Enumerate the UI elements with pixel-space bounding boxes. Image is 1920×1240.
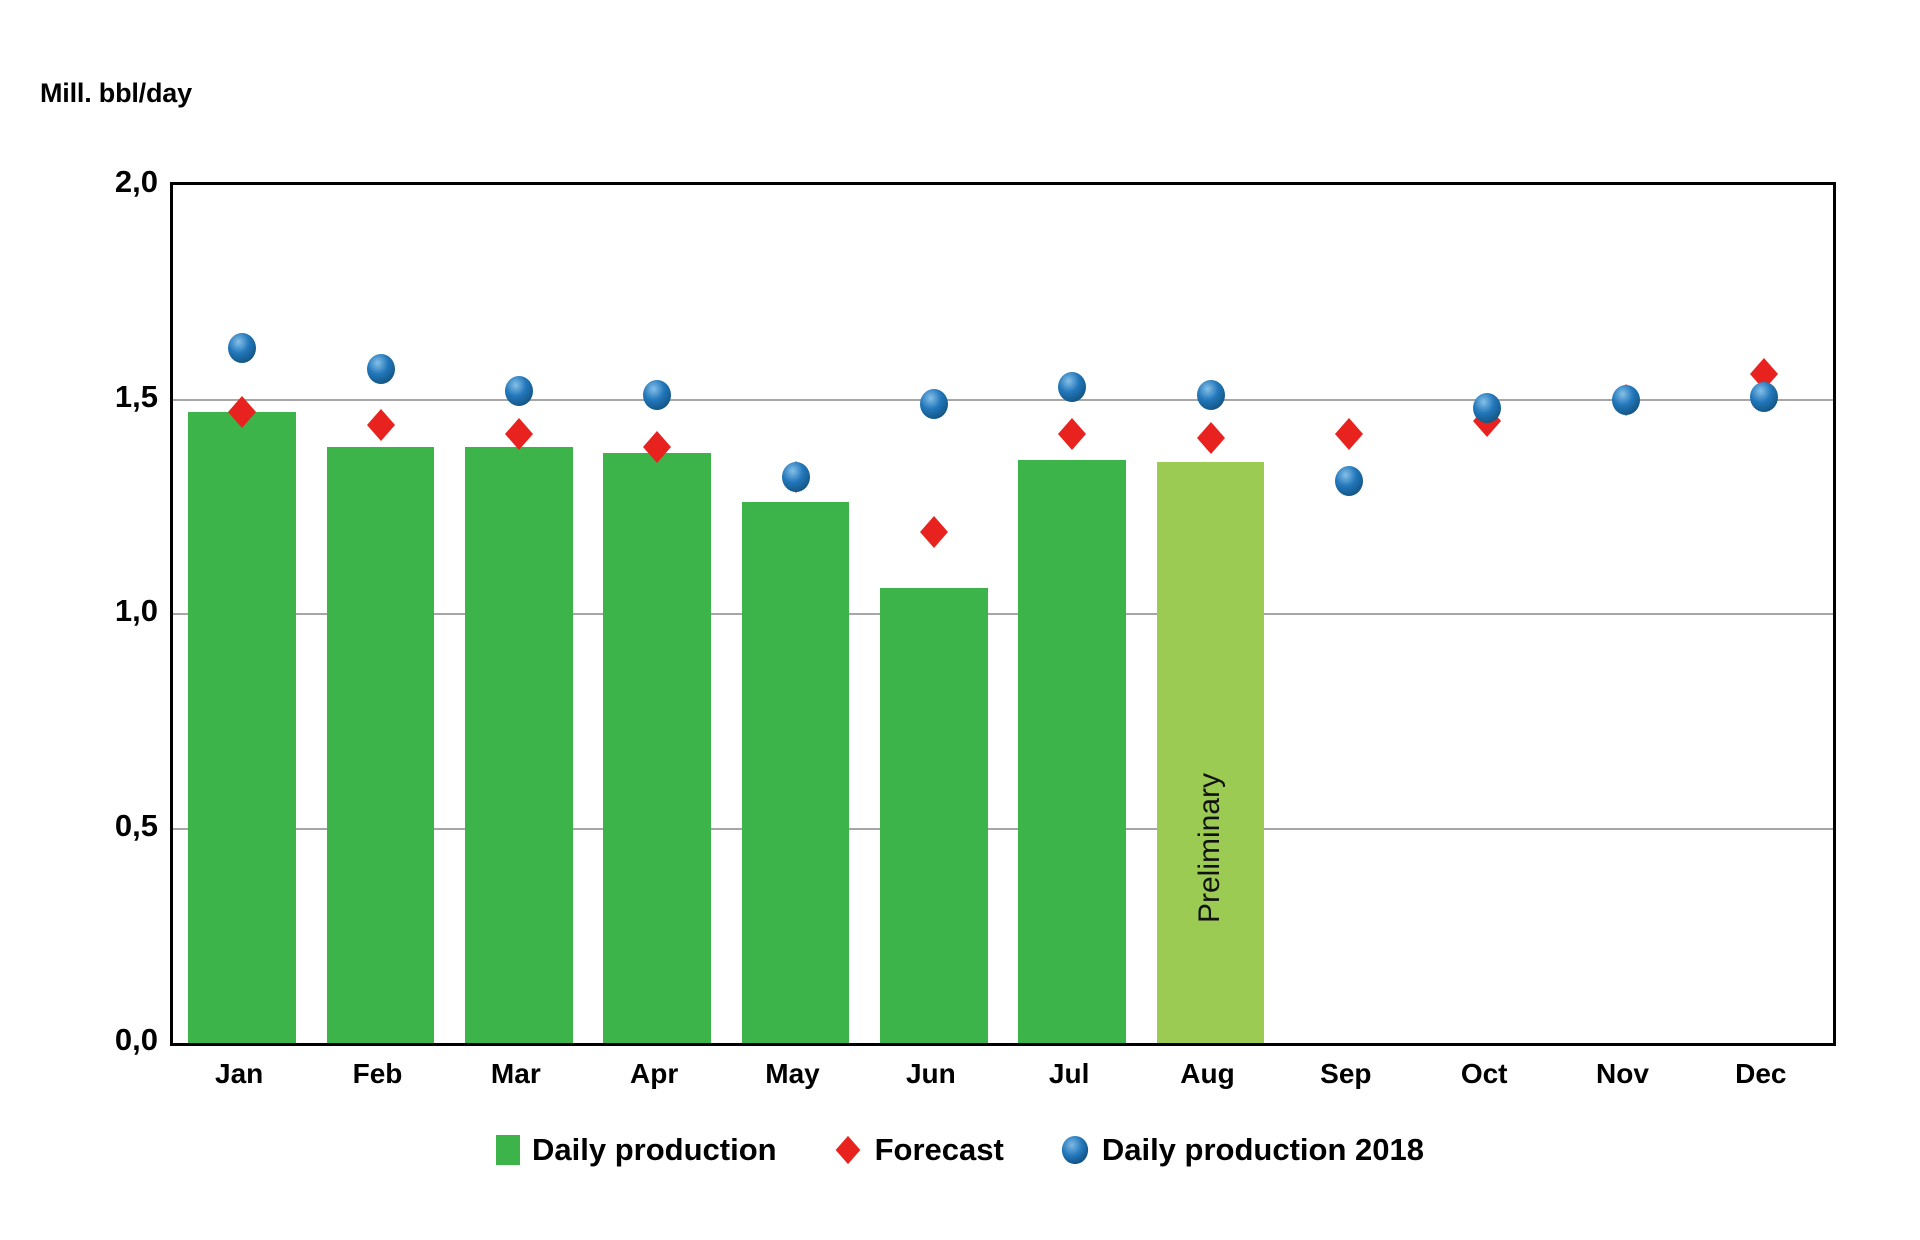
bar-jan [188,412,296,1043]
production-2018-circle-icon-may [780,461,812,493]
bar-jul [1018,460,1126,1043]
y-axis-tick-label: 0,5 [38,808,158,844]
gridline [173,399,1833,401]
legend-label: Daily production [532,1132,777,1168]
x-axis-tick-label-jan: Jan [215,1058,263,1090]
bar-mar [465,447,573,1043]
chart-legend: Daily productionForecastDaily production… [0,1132,1920,1168]
x-axis-tick-label-oct: Oct [1461,1058,1508,1090]
red-diamond-icon [833,1133,863,1167]
production-2018-circle-icon-jun [918,388,950,420]
x-axis-tick-label-jun: Jun [906,1058,956,1090]
production-chart: Mill. bbl/day 0,00,51,01,52,0 Preliminar… [0,0,1920,1240]
y-axis-tick-label: 0,0 [38,1022,158,1058]
x-axis-tick-label-nov: Nov [1596,1058,1649,1090]
production-2018-circle-icon-jan [226,332,258,364]
legend-label: Forecast [875,1132,1004,1168]
x-axis-tick-label-apr: Apr [630,1058,678,1090]
legend-item-2[interactable]: Daily production 2018 [1060,1132,1424,1168]
x-axis-tick-label-feb: Feb [353,1058,403,1090]
production-2018-circle-icon-jul [1056,371,1088,403]
x-axis-tick-label-dec: Dec [1735,1058,1786,1090]
forecast-diamond-icon-jul [1055,417,1089,451]
x-axis-tick-label-mar: Mar [491,1058,541,1090]
y-axis-unit-title: Mill. bbl/day [40,78,192,109]
production-2018-circle-icon-feb [365,353,397,385]
x-axis-tick-label-sep: Sep [1320,1058,1371,1090]
forecast-diamond-icon-jan [225,395,259,429]
legend-item-1[interactable]: Forecast [833,1132,1004,1168]
plot-inner: Preliminary [173,185,1833,1043]
forecast-diamond-icon-sep [1332,417,1366,451]
blue-circle-icon [1060,1133,1090,1167]
production-2018-circle-icon-mar [503,375,535,407]
production-2018-circle-icon-sep [1333,465,1365,497]
x-axis-tick-label-aug: Aug [1180,1058,1234,1090]
bar-may [742,502,850,1043]
forecast-diamond-icon-feb [364,408,398,442]
bar-aug: Preliminary [1157,462,1265,1043]
production-2018-circle-icon-apr [641,379,673,411]
production-2018-circle-icon-oct [1471,392,1503,424]
bar-apr [603,453,711,1043]
forecast-diamond-icon-apr [640,430,674,464]
production-2018-circle-icon-aug [1195,379,1227,411]
production-2018-circle-icon-dec [1748,381,1780,413]
y-axis-tick-label: 1,0 [38,593,158,629]
bar-feb [327,447,435,1043]
bar-jun [880,588,988,1043]
x-axis-tick-label-may: May [765,1058,819,1090]
green-square-icon [496,1135,520,1165]
legend-item-0[interactable]: Daily production [496,1132,777,1168]
legend-label: Daily production 2018 [1102,1132,1424,1168]
y-axis-tick-label: 1,5 [38,379,158,415]
y-axis-tick-label: 2,0 [38,164,158,200]
forecast-diamond-icon-aug [1194,421,1228,455]
forecast-diamond-icon-mar [502,417,536,451]
plot-area: Preliminary [170,182,1836,1046]
forecast-diamond-icon-jun [917,515,951,549]
x-axis-tick-label-jul: Jul [1049,1058,1089,1090]
production-2018-circle-icon-nov [1610,384,1642,416]
